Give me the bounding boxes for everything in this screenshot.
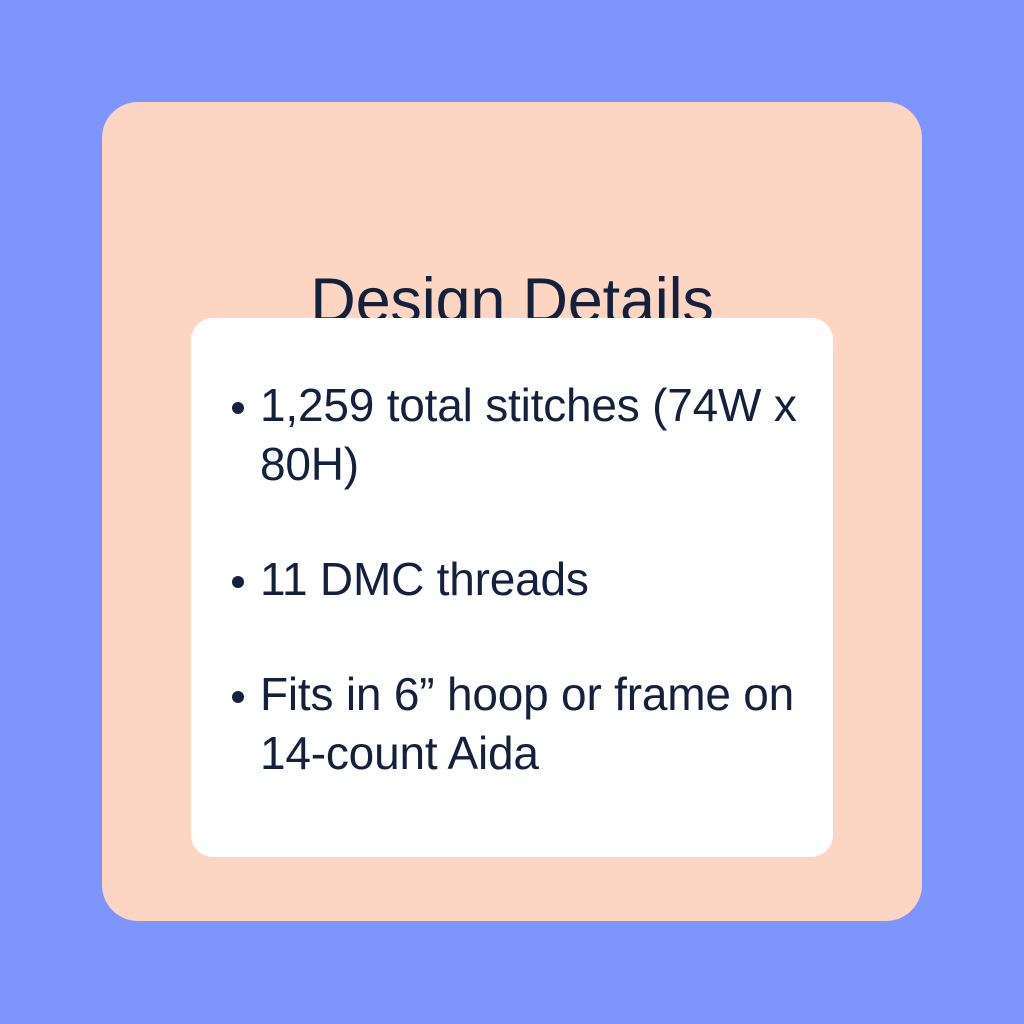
list-item: Fits in 6” hoop or frame on 14-count Aid… — [232, 665, 827, 783]
page-root: Design Details 1,259 total stitches (74W… — [0, 0, 1024, 1024]
bullet-dot-icon — [232, 402, 244, 414]
list-item-label: 1,259 total stitches (74W x 80H) — [260, 376, 827, 494]
list-item-label: Fits in 6” hoop or frame on 14-count Aid… — [260, 665, 827, 783]
list-item-label: 11 DMC threads — [260, 550, 827, 609]
design-details-list: 1,259 total stitches (74W x 80H) 11 DMC … — [232, 376, 827, 782]
design-details-card: Design Details 1,259 total stitches (74W… — [102, 102, 922, 921]
bullet-dot-icon — [232, 576, 244, 588]
details-panel: 1,259 total stitches (74W x 80H) 11 DMC … — [191, 318, 833, 857]
list-item: 11 DMC threads — [232, 550, 827, 609]
bullet-dot-icon — [232, 691, 244, 703]
list-item: 1,259 total stitches (74W x 80H) — [232, 376, 827, 494]
